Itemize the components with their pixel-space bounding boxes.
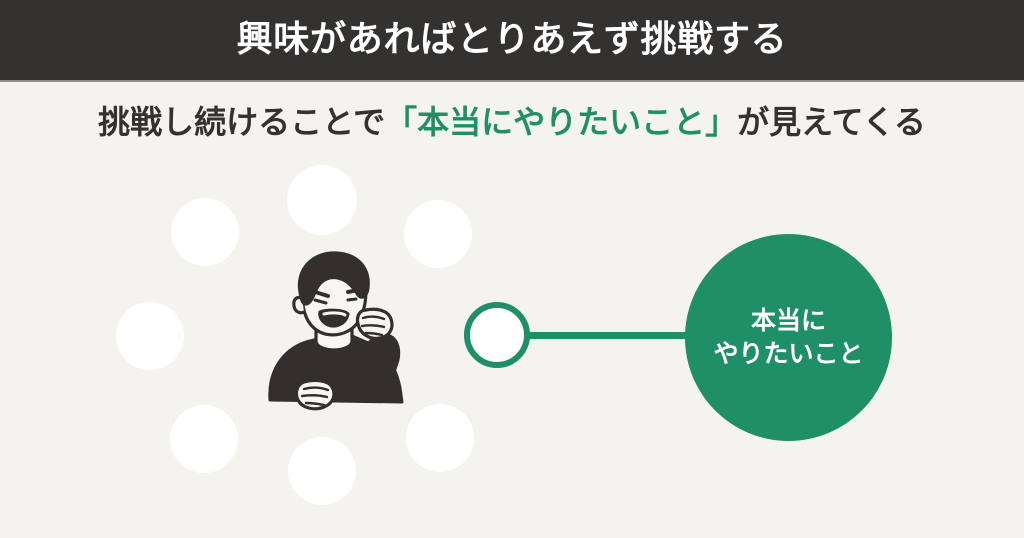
subtitle: 挑戦し続けることで「本当にやりたいこと」が見えてくる: [0, 103, 1024, 141]
bubble-top-center: [287, 165, 357, 235]
subtitle-suffix: が見えてくる: [737, 104, 926, 140]
subtitle-prefix: 挑戦し続けることで: [98, 104, 385, 140]
determined-man-illustration: [248, 248, 430, 420]
bubble-top-left: [171, 198, 239, 266]
slide-canvas: 興味があればとりあえず挑戦する 挑戦し続けることで「本当にやりたいこと」が見えて…: [0, 0, 1024, 538]
bubble-bottom-left: [170, 405, 238, 473]
goal-label-line2: やりたいこと: [713, 338, 863, 371]
header-bar: 興味があればとりあえず挑戦する: [0, 0, 1024, 82]
bubble-middle-left: [116, 302, 184, 370]
goal-label-line1: 本当に: [751, 305, 826, 338]
page-title: 興味があればとりあえず挑戦する: [237, 21, 788, 57]
subtitle-highlight: 「本当にやりたいこと」: [385, 104, 737, 140]
goal-circle[interactable]: 本当に やりたいこと: [685, 234, 892, 441]
bubble-bottom-center: [288, 437, 356, 505]
node-circle[interactable]: [464, 302, 530, 368]
